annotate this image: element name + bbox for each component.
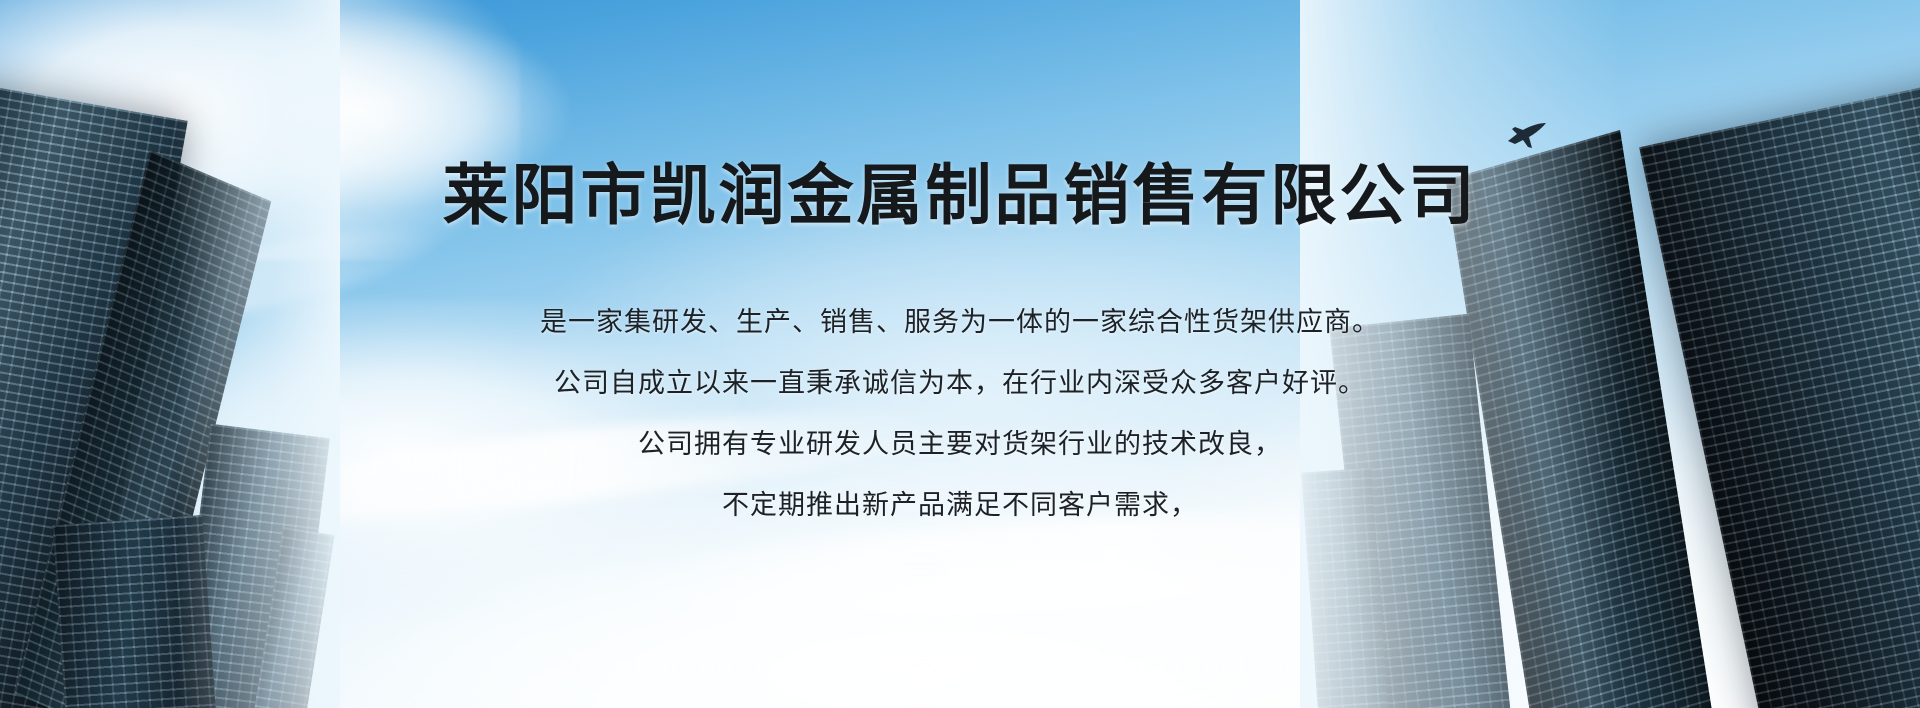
description-line: 不定期推出新产品满足不同客户需求， [0,475,1920,536]
banner-text-content: 莱阳市凯润金属制品销售有限公司 是一家集研发、生产、销售、服务为一体的一家综合性… [0,0,1920,708]
company-hero-banner: 莱阳市凯润金属制品销售有限公司 是一家集研发、生产、销售、服务为一体的一家综合性… [0,0,1920,708]
page-title: 莱阳市凯润金属制品销售有限公司 [0,162,1920,228]
description-line: 公司拥有专业研发人员主要对货架行业的技术改良， [0,414,1920,475]
description-line: 是一家集研发、生产、销售、服务为一体的一家综合性货架供应商。 [0,292,1920,353]
company-description: 是一家集研发、生产、销售、服务为一体的一家综合性货架供应商。 公司自成立以来一直… [0,292,1920,536]
description-line: 公司自成立以来一直秉承诚信为本，在行业内深受众多客户好评。 [0,353,1920,414]
